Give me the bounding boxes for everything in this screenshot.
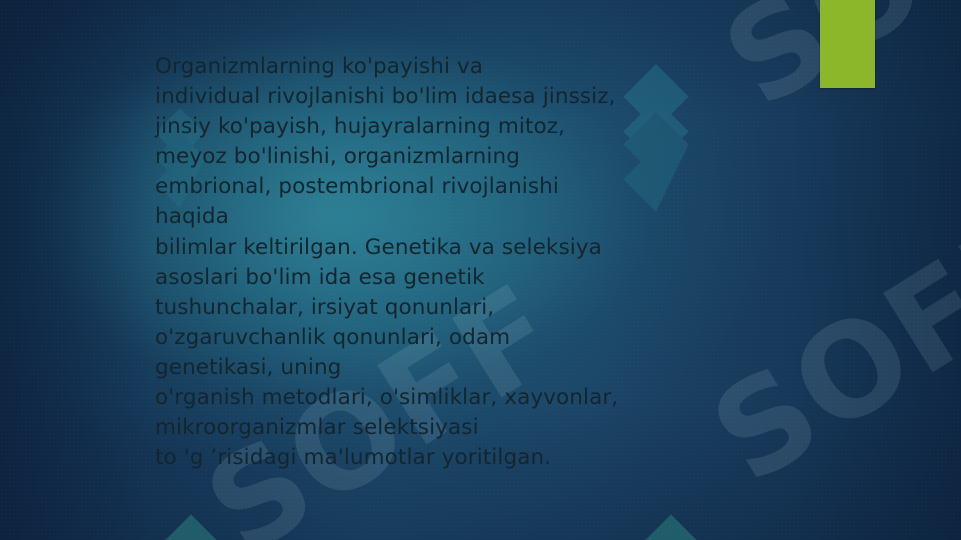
body-line: jinsiy ko'payish, hujayralarning mitoz, xyxy=(155,112,855,142)
body-line: genetikasi, uning xyxy=(155,353,855,383)
body-line: tushunchalar, irsiyat qonunlari, xyxy=(155,293,855,323)
body-line: haqida xyxy=(155,202,855,232)
body-line: to 'g ’risidagi ma'lumotlar yoritilgan. xyxy=(155,443,855,473)
body-line: individual rivojlanishi bo'lim idaesa ji… xyxy=(155,82,855,112)
body-line: Organizmlarning ko'payishi va xyxy=(155,52,855,82)
body-line: meyoz bo'linishi, organizmlarning xyxy=(155,142,855,172)
body-line: o'rganish metodlari, o'simliklar, xayvon… xyxy=(155,383,855,413)
body-line: asoslari bo'lim ida esa genetik xyxy=(155,263,855,293)
body-line: o'zgaruvchanlik qonunlari, odam xyxy=(155,323,855,353)
body-line: mikroorganizmlar selektsiyasi xyxy=(155,413,855,443)
body-line: embrional, postembrional rivojlanishi xyxy=(155,172,855,202)
presentation-slide: SOFF SOFF SOFF Organizmlarning ko'payish… xyxy=(0,0,961,540)
body-line: bilimlar keltirilgan. Genetika va seleks… xyxy=(155,233,855,263)
slide-body-text: Organizmlarning ko'payishi va individual… xyxy=(155,52,855,473)
